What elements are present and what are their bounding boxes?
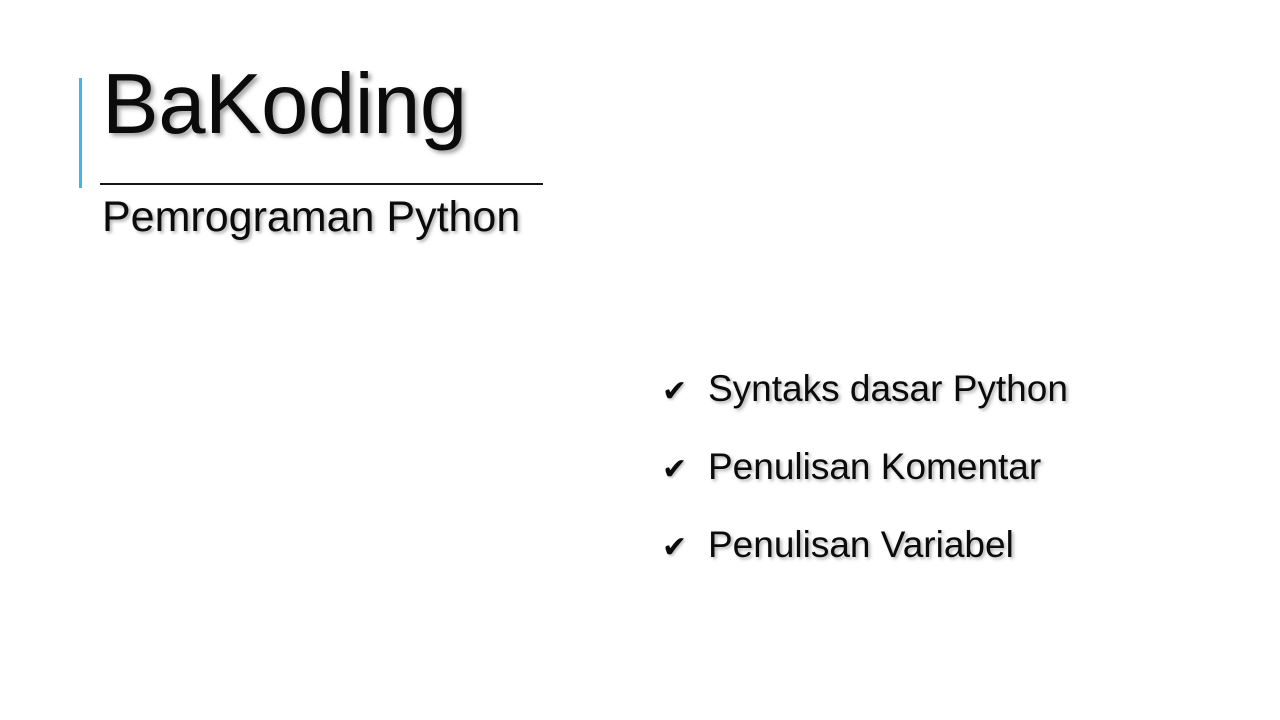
- list-item: ✔ Penulisan Variabel: [662, 526, 1222, 604]
- bullet-list: ✔ Syntaks dasar Python ✔ Penulisan Komen…: [662, 370, 1222, 604]
- page-title: BaKoding: [102, 62, 467, 147]
- list-item-label: Penulisan Komentar: [708, 448, 1041, 485]
- check-mark-icon: ✔: [662, 377, 708, 407]
- list-item-label: Penulisan Variabel: [708, 526, 1014, 563]
- page-subtitle: Pemrograman Python: [102, 193, 520, 242]
- list-item: ✔ Syntaks dasar Python: [662, 370, 1222, 448]
- accent-bar: [79, 78, 82, 188]
- list-item-label: Syntaks dasar Python: [708, 370, 1068, 407]
- list-item: ✔ Penulisan Komentar: [662, 448, 1222, 526]
- presentation-slide: BaKoding Pemrograman Python ✔ Syntaks da…: [0, 0, 1280, 720]
- check-mark-icon: ✔: [662, 533, 708, 563]
- title-block: BaKoding Pemrograman Python: [72, 62, 592, 252]
- title-divider: [100, 183, 543, 185]
- check-mark-icon: ✔: [662, 455, 708, 485]
